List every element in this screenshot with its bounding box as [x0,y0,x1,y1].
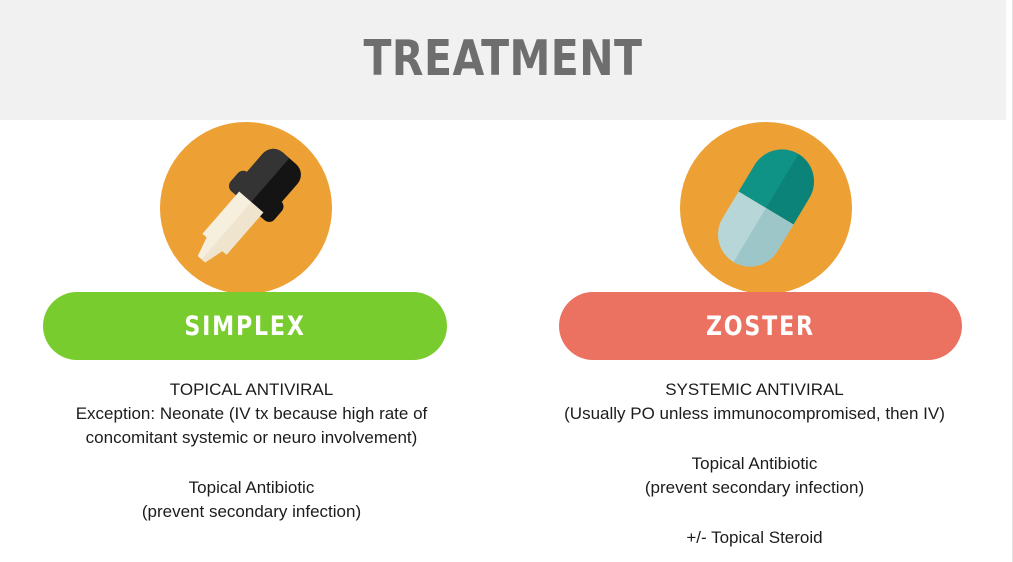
text-line: (Usually PO unless immunocompromised, th… [517,402,992,426]
simplex-button[interactable]: Simplex [43,292,447,360]
simplex-details: TOPICAL ANTIVIRAL Exception: Neonate (IV… [0,378,503,524]
zoster-paragraph-steroid: +/- Topical Steroid [503,526,1006,550]
text-line: Topical Antibiotic [14,476,489,500]
zoster-paragraph-antibiotic: Topical Antibiotic (prevent secondary in… [503,452,1006,500]
simplex-button-label: Simplex [184,311,305,342]
zoster-details: SYSTEMIC ANTIVIRAL (Usually PO unless im… [503,378,1006,550]
treatment-column-zoster: Zoster SYSTEMIC ANTIVIRAL (Usually PO un… [503,120,1006,562]
page-title: Treatment [35,33,971,85]
icon-badge-zoster [680,122,852,294]
text-line: Exception: Neonate (IV tx because high r… [14,402,489,426]
text-line: concomitant systemic or neuro involvemen… [14,426,489,450]
text-line: (prevent secondary infection) [14,500,489,524]
header-band: Treatment [0,0,1006,120]
treatment-slide: Treatment Simplex [0,0,1013,562]
simplex-paragraph-antibiotic: Topical Antibiotic (prevent secondary in… [0,476,503,524]
text-line: (prevent secondary infection) [517,476,992,500]
dropper-icon [181,139,311,277]
icon-badge-simplex [160,122,332,294]
text-line: SYSTEMIC ANTIVIRAL [517,378,992,402]
capsule-icon [706,138,826,279]
zoster-button[interactable]: Zoster [559,292,962,360]
zoster-paragraph-antiviral: SYSTEMIC ANTIVIRAL (Usually PO unless im… [503,378,1006,426]
treatment-column-simplex: Simplex TOPICAL ANTIVIRAL Exception: Neo… [0,120,503,562]
text-line: TOPICAL ANTIVIRAL [14,378,489,402]
treatment-columns: Simplex TOPICAL ANTIVIRAL Exception: Neo… [0,120,1006,562]
simplex-paragraph-antiviral: TOPICAL ANTIVIRAL Exception: Neonate (IV… [0,378,503,450]
text-line: +/- Topical Steroid [517,526,992,550]
text-line: Topical Antibiotic [517,452,992,476]
zoster-button-label: Zoster [706,311,815,342]
